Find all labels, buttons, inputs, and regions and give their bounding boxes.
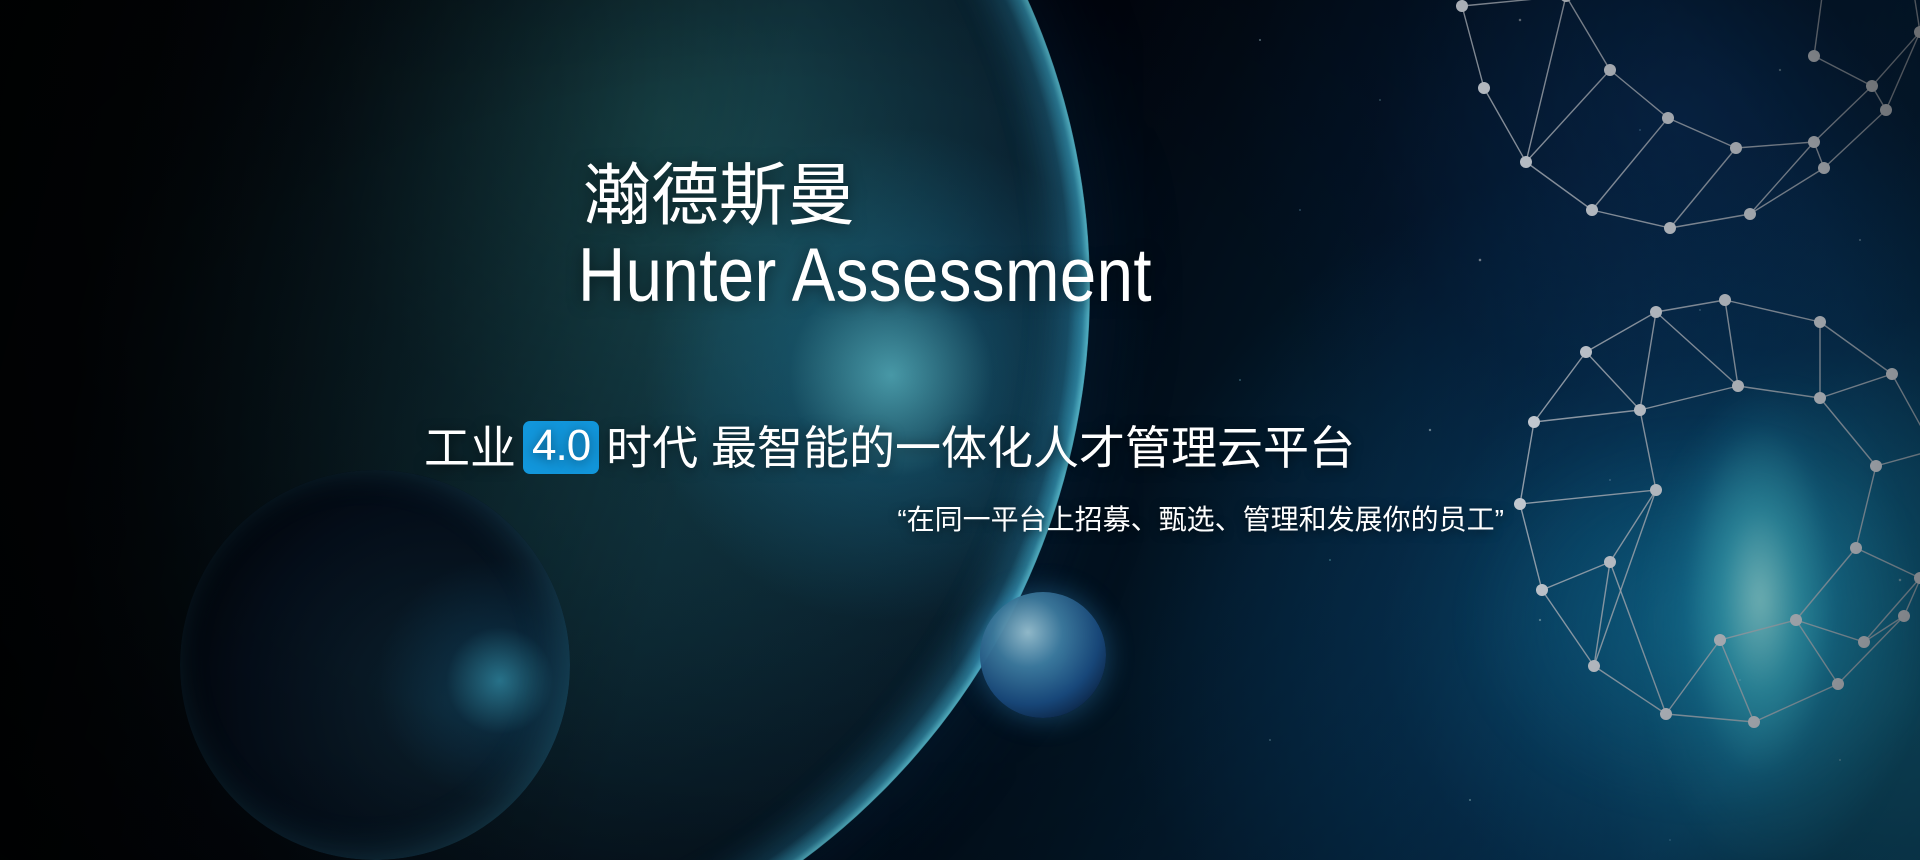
tagline: 工业 4.0 时代 最智能的一体化人才管理云平台 bbox=[424, 421, 1355, 474]
page-title-en: Hunter Assessment bbox=[578, 238, 1152, 314]
version-badge: 4.0 bbox=[523, 421, 599, 474]
tagline-after-badge: 时代 最智能的一体化人才管理云平台 bbox=[606, 425, 1355, 471]
tagline-before-badge: 工业 bbox=[424, 425, 516, 471]
tagline-quote: “在同一平台上招募、甄选、管理和发展你的员工” bbox=[818, 503, 1504, 537]
hero-copy: 瀚德斯曼 Hunter Assessment 工业 4.0 时代 最智能的一体化… bbox=[0, 0, 1920, 860]
hero-banner: 瀚德斯曼 Hunter Assessment 工业 4.0 时代 最智能的一体化… bbox=[0, 0, 1920, 860]
page-title-cn: 瀚德斯曼 bbox=[583, 162, 855, 230]
